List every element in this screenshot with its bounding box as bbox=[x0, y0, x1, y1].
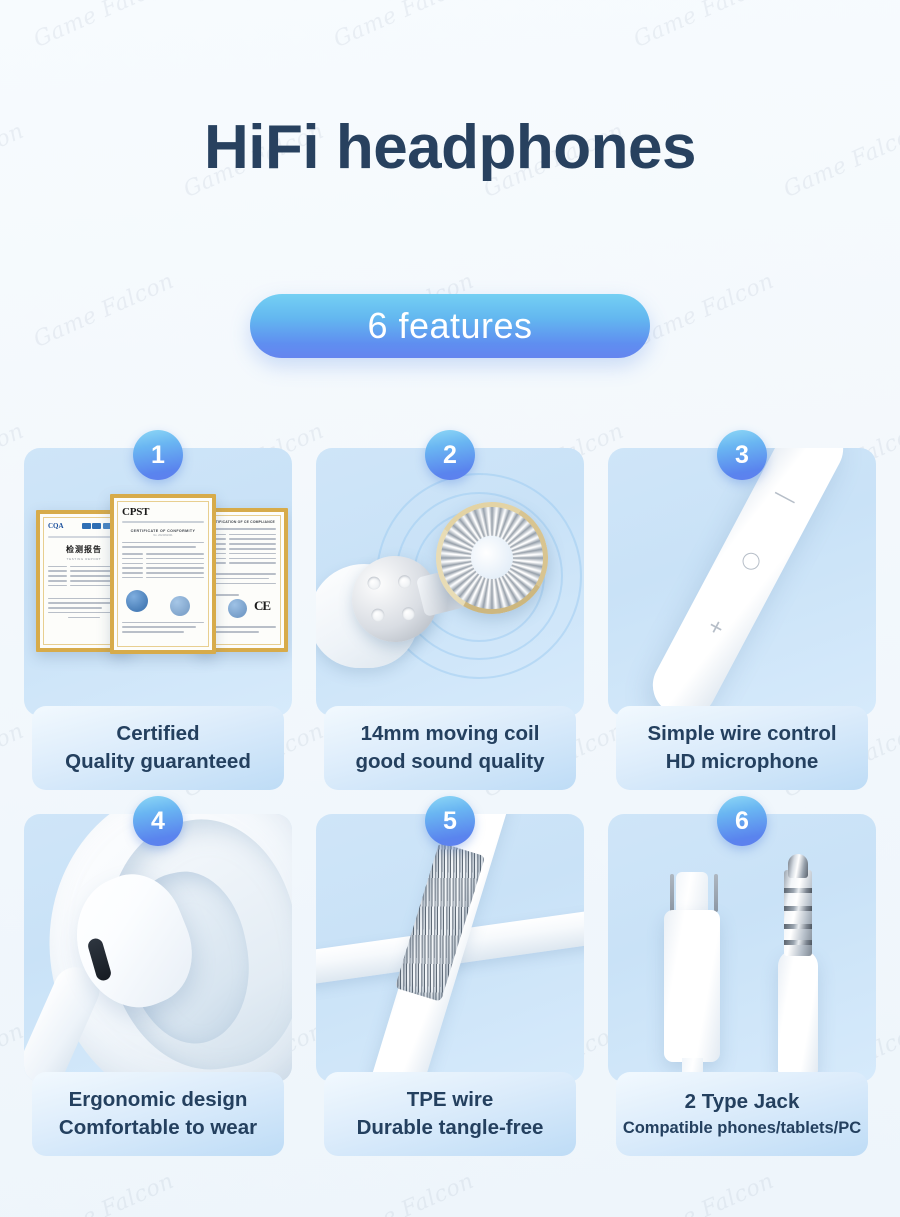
caption-line-2: Compatible phones/tablets/PC bbox=[623, 1117, 861, 1140]
feature-caption-1: Certified Quality guaranteed bbox=[32, 706, 284, 790]
caption-line-1: 2 Type Jack bbox=[685, 1088, 800, 1116]
usb-c-tip bbox=[676, 872, 708, 914]
certificate-center: CPST CERTIFICATE OF CONFORMITY No. 20240… bbox=[110, 494, 216, 654]
feature-caption-2: 14mm moving coil good sound quality bbox=[324, 706, 576, 790]
caption-line-2: good sound quality bbox=[355, 748, 544, 776]
usb-c-connector bbox=[664, 910, 720, 1062]
certificate-center-title: CERTIFICATE OF CONFORMITY bbox=[122, 529, 204, 533]
feature-card-6: 6 2 Type Jack Compatible phones/tablets/… bbox=[608, 814, 876, 1114]
certificate-center-seal-2 bbox=[170, 596, 190, 616]
caption-line-1: Ergonomic design bbox=[69, 1086, 248, 1114]
caption-line-1: Certified bbox=[116, 720, 199, 748]
feature-number-badge: 3 bbox=[717, 430, 767, 480]
certificate-stack: CQA 检测报告 TESTING REPORT bbox=[24, 448, 292, 716]
watermark-text: Game Falcon bbox=[330, 0, 478, 53]
feature-card-3: — + 3 Simple wire control HD microphone bbox=[608, 448, 876, 748]
earbud-in-ear-illustration bbox=[24, 814, 292, 1082]
features-badge-label: 6 features bbox=[367, 305, 532, 347]
caption-line-2: HD microphone bbox=[666, 748, 819, 776]
feature-number-badge: 5 bbox=[425, 796, 475, 846]
watermark-text: Game Falcon bbox=[630, 0, 778, 53]
remote-body: — + bbox=[642, 448, 853, 716]
aux-jack-tip bbox=[788, 854, 808, 878]
usb-c-rail-left bbox=[670, 874, 674, 912]
aux-jack-ring bbox=[784, 906, 812, 911]
watermark-text: Game Falcon bbox=[30, 1169, 178, 1217]
inline-remote-illustration: — + bbox=[608, 448, 876, 716]
feature-card-2: 2 14mm moving coil good sound quality bbox=[316, 448, 584, 748]
driver-dome bbox=[467, 533, 518, 584]
page-title: HiFi headphones bbox=[0, 112, 900, 183]
volume-up-icon: + bbox=[704, 614, 728, 642]
connectors-illustration bbox=[608, 814, 876, 1082]
feature-art-ear-fit bbox=[24, 814, 292, 1082]
aux-jack-ring bbox=[784, 940, 812, 945]
feature-number-badge: 2 bbox=[425, 430, 475, 480]
aux-jack-ring bbox=[784, 924, 812, 929]
feature-art-connectors bbox=[608, 814, 876, 1082]
feature-number-badge: 6 bbox=[717, 796, 767, 846]
watermark-text: Game Falcon bbox=[630, 1169, 778, 1217]
ce-mark: CE bbox=[254, 598, 270, 614]
features-grid: CQA 检测报告 TESTING REPORT bbox=[24, 448, 876, 1132]
certificate-right-seal bbox=[228, 599, 247, 618]
watermark-text: Game Falcon bbox=[630, 269, 778, 353]
caption-line-2: Quality guaranteed bbox=[65, 748, 251, 776]
feature-caption-3: Simple wire control HD microphone bbox=[616, 706, 868, 790]
aux-jack-housing bbox=[778, 950, 818, 1076]
caption-line-1: TPE wire bbox=[407, 1086, 494, 1114]
features-count-badge: 6 features bbox=[250, 294, 650, 358]
cpst-brand: CPST bbox=[122, 506, 204, 518]
cqa-logo: CQA bbox=[48, 522, 64, 530]
feature-art-certificates: CQA 检测报告 TESTING REPORT bbox=[24, 448, 292, 716]
tpe-cable-illustration bbox=[316, 814, 584, 1082]
feature-card-4: 4 Ergonomic design Comfortable to wear bbox=[24, 814, 292, 1114]
feature-number-badge: 1 bbox=[133, 430, 183, 480]
caption-line-2: Durable tangle-free bbox=[357, 1114, 544, 1142]
feature-caption-4: Ergonomic design Comfortable to wear bbox=[32, 1072, 284, 1156]
watermark-text: Game Falcon bbox=[30, 0, 178, 53]
feature-card-5: 5 TPE wire Durable tangle-free bbox=[316, 814, 584, 1114]
caption-line-1: Simple wire control bbox=[647, 720, 836, 748]
feature-art-remote: — + bbox=[608, 448, 876, 716]
watermark-text: Game Falcon bbox=[30, 269, 178, 353]
usb-c-rail-right bbox=[714, 874, 718, 912]
feature-art-tpe-wire bbox=[316, 814, 584, 1082]
cpst-seal bbox=[126, 590, 148, 612]
feature-number-badge: 4 bbox=[133, 796, 183, 846]
feature-caption-6: 2 Type Jack Compatible phones/tablets/PC bbox=[616, 1072, 868, 1156]
caption-line-2: Comfortable to wear bbox=[59, 1114, 257, 1142]
feature-card-1: CQA 检测报告 TESTING REPORT bbox=[24, 448, 292, 748]
caption-line-1: 14mm moving coil bbox=[361, 720, 540, 748]
multifunction-button-icon bbox=[740, 550, 763, 573]
aux-jack-ring bbox=[784, 888, 812, 893]
certificate-right-title: CERTIFICATION OF CE COMPLIANCE bbox=[208, 520, 276, 524]
watermark-text: Game Falcon bbox=[330, 1169, 478, 1217]
feature-art-driver bbox=[316, 448, 584, 716]
moving-coil-driver-illustration bbox=[316, 448, 584, 716]
volume-down-icon: — bbox=[771, 481, 801, 511]
feature-caption-5: TPE wire Durable tangle-free bbox=[324, 1072, 576, 1156]
